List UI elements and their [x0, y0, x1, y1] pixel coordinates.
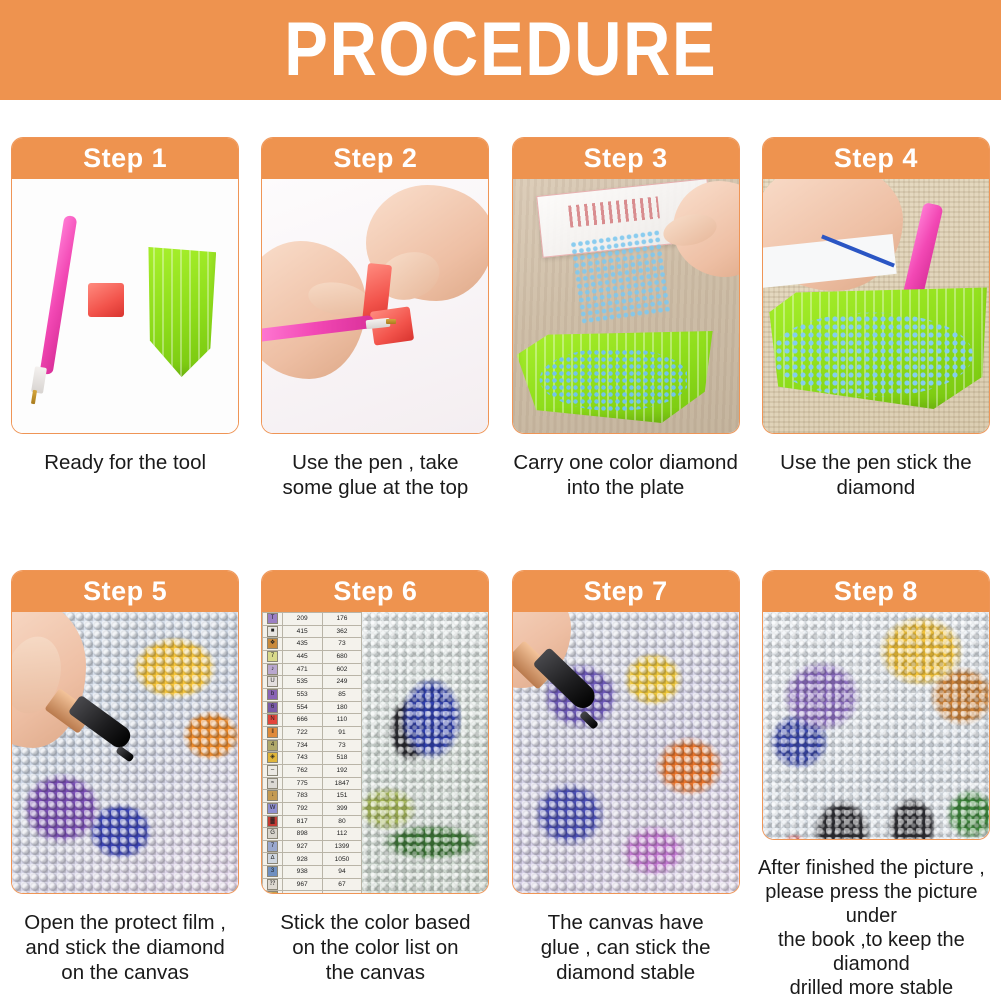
color-chart-row: ≈7751847 — [263, 777, 362, 790]
color-swatch: ❖ — [267, 638, 278, 649]
partly-finished-canvas — [362, 612, 488, 893]
color-swatch: 6 — [267, 702, 278, 713]
color-chart-row: W792399 — [263, 802, 362, 815]
color-count-cell: 1847 — [322, 777, 362, 790]
color-chart-row: T209176 — [263, 613, 362, 626]
color-count-cell: 73 — [322, 638, 362, 651]
color-list-table: T209176■415362❖435737445680♪471602U53524… — [262, 612, 364, 893]
step-3-header: Step 3 — [513, 138, 739, 179]
color-swatch: G — [267, 828, 278, 839]
step-8-caption: After finished the picture , please pres… — [737, 856, 1001, 1000]
color-count-cell: 73 — [322, 739, 362, 752]
color-symbol-cell: ♪ — [263, 663, 282, 676]
color-count-cell: 109 — [322, 891, 362, 893]
color-swatch: T — [267, 613, 278, 624]
color-code-cell: 415 — [282, 625, 322, 638]
color-chart-row: ▓81780 — [263, 815, 362, 828]
color-swatch: U — [267, 676, 278, 687]
color-swatch: ■ — [267, 626, 278, 637]
color-code-cell: 554 — [282, 701, 322, 714]
step-5-caption: Open the protect film , and stick the di… — [0, 910, 250, 985]
step-1-header: Step 1 — [12, 138, 238, 179]
color-count-cell: 399 — [322, 802, 362, 815]
color-count-cell: 680 — [322, 650, 362, 663]
step-card-8[interactable]: Step 8 After finished the picture , plea… — [751, 570, 1001, 1000]
color-chart-row: U535249 — [263, 676, 362, 689]
color-swatch: ◈ — [267, 752, 278, 763]
step-5-header: Step 5 — [12, 571, 238, 612]
color-code-cell: 775 — [282, 777, 322, 790]
color-chart-row: ⁇96767 — [263, 878, 362, 891]
color-chart-row: G898112 — [263, 828, 362, 841]
color-count-cell: 151 — [322, 790, 362, 803]
color-symbol-cell: 7 — [263, 650, 282, 663]
color-swatch: 3 — [267, 866, 278, 877]
color-chart-row: ‖72291 — [263, 726, 362, 739]
glue-square-icon — [88, 283, 124, 317]
color-swatch: ↓ — [267, 790, 278, 801]
color-symbol-cell: 4 — [263, 739, 282, 752]
color-chart-row: 7445680 — [263, 650, 362, 663]
color-chart-row: ↓783151 — [263, 790, 362, 803]
step-7-photo — [513, 612, 739, 893]
color-swatch: ≈ — [267, 778, 278, 789]
color-code-cell: 743 — [282, 752, 322, 765]
step-1-caption: Ready for the tool — [0, 450, 250, 475]
finished-canvas-mosaic — [763, 612, 989, 840]
color-code-cell: 975 — [282, 891, 322, 893]
color-symbol-cell: ❖ — [263, 638, 282, 651]
step-2-photo — [262, 179, 488, 433]
color-swatch: 4 — [267, 740, 278, 751]
color-chart-row: N666110 — [263, 714, 362, 727]
color-chart-row: 79271399 — [263, 840, 362, 853]
page-title: PROCEDURE — [284, 10, 717, 90]
color-symbol-cell: ‖ — [263, 726, 282, 739]
color-symbol-cell: ≈ — [263, 777, 282, 790]
bead-grid — [763, 612, 989, 840]
color-count-cell: 602 — [322, 663, 362, 676]
color-symbol-cell: 3 — [263, 866, 282, 879]
color-chart-row: 473473 — [263, 739, 362, 752]
color-count-cell: 518 — [322, 752, 362, 765]
color-symbol-cell: ■ — [263, 625, 282, 638]
page-banner: PROCEDURE — [0, 0, 1001, 100]
step-card-1[interactable]: Step 1 Ready for the tool — [0, 137, 250, 527]
color-count-cell: 67 — [322, 878, 362, 891]
color-symbol-cell: T — [263, 613, 282, 626]
color-chart-row: ♪471602 — [263, 663, 362, 676]
color-count-cell: 94 — [322, 866, 362, 879]
color-symbol-cell: – — [263, 764, 282, 777]
color-count-cell: 85 — [322, 688, 362, 701]
color-symbol-cell: ▓ — [263, 815, 282, 828]
step-8-photo — [763, 612, 989, 840]
color-swatch: N — [267, 714, 278, 725]
color-symbol-cell: ↓ — [263, 790, 282, 803]
color-symbol-cell: N — [263, 714, 282, 727]
step-2-card-frame: Step 2 — [261, 137, 489, 434]
color-swatch: ⁇ — [267, 879, 278, 890]
color-swatch: ▓ — [267, 816, 278, 827]
step-card-6[interactable]: Step 6 T209176■415362❖435737445680♪47160… — [250, 570, 500, 1000]
color-count-cell: 192 — [322, 764, 362, 777]
color-chart-row: C975109 — [263, 891, 362, 893]
color-chart-table: T209176■415362❖435737445680♪471602U53524… — [262, 612, 362, 893]
steps-row-bottom: Step 5 Open the protect film , and stick… — [0, 570, 1001, 1000]
step-6-card-frame: Step 6 T209176■415362❖435737445680♪47160… — [261, 570, 489, 894]
color-symbol-cell: ∆ — [263, 853, 282, 866]
color-count-cell: 110 — [322, 714, 362, 727]
canvas-mosaic — [362, 612, 488, 893]
color-symbol-cell: 7 — [263, 840, 282, 853]
color-chart-row: –762192 — [263, 764, 362, 777]
color-chart-row: ◈743518 — [263, 752, 362, 765]
color-chart-row: ■415362 — [263, 625, 362, 638]
step-6-caption: Stick the color based on the color list … — [250, 910, 500, 985]
color-count-cell: 112 — [322, 828, 362, 841]
step-8-header: Step 8 — [763, 571, 989, 612]
step-1-card-frame: Step 1 — [11, 137, 239, 434]
step-3-card-frame: Step 3 — [512, 137, 740, 434]
color-swatch: 7 — [267, 651, 278, 662]
color-symbol-cell: U — [263, 676, 282, 689]
step-5-card-frame: Step 5 — [11, 570, 239, 894]
color-swatch: W — [267, 803, 278, 814]
step-card-2[interactable]: Step 2 Use the — [250, 137, 500, 527]
step-card-3[interactable]: Step 3 Carry — [501, 137, 751, 527]
step-3-caption: Carry one color diamond into the plate — [501, 450, 751, 500]
color-swatch: – — [267, 765, 278, 776]
step-3-photo — [513, 179, 739, 433]
color-code-cell: 666 — [282, 714, 322, 727]
step-6-header: Step 6 — [262, 571, 488, 612]
step-4-header: Step 4 — [763, 138, 989, 179]
step-4-card-frame: Step 4 — [762, 137, 990, 434]
step-8-card-frame: Step 8 — [762, 570, 990, 840]
bead-grid — [362, 612, 488, 893]
color-code-cell: 938 — [282, 866, 322, 879]
color-count-cell: 1050 — [322, 853, 362, 866]
color-swatch: b — [267, 689, 278, 700]
step-card-5[interactable]: Step 5 Open the protect film , and stick… — [0, 570, 250, 1000]
color-chart-row: 393894 — [263, 866, 362, 879]
step-5-photo — [12, 612, 238, 893]
diamond-stream — [569, 229, 670, 325]
color-count-cell: 1399 — [322, 840, 362, 853]
color-count-cell: 249 — [322, 676, 362, 689]
color-code-cell: 209 — [282, 613, 322, 626]
step-4-photo — [763, 179, 989, 433]
color-count-cell: 180 — [322, 701, 362, 714]
color-code-cell: 928 — [282, 853, 322, 866]
color-code-cell: 435 — [282, 638, 322, 651]
step-card-7[interactable]: Step 7 The canvas have glue , can stick … — [501, 570, 751, 1000]
color-swatch: ‖ — [267, 727, 278, 738]
color-chart-row: ❖43573 — [263, 638, 362, 651]
color-symbol-cell: b — [263, 688, 282, 701]
pen-metal-tip-icon — [386, 319, 396, 324]
color-symbol-cell: 6 — [263, 701, 282, 714]
color-code-cell: 762 — [282, 764, 322, 777]
color-code-cell: 471 — [282, 663, 322, 676]
step-7-card-frame: Step 7 — [512, 570, 740, 894]
color-symbol-cell: ⁇ — [263, 878, 282, 891]
step-2-header: Step 2 — [262, 138, 488, 179]
steps-row-top: Step 1 Ready for the tool — [0, 137, 1001, 527]
color-chart-row: ∆9281050 — [263, 853, 362, 866]
color-code-cell: 722 — [282, 726, 322, 739]
color-chart-body: T209176■415362❖435737445680♪471602U53524… — [263, 613, 362, 894]
step-6-photo: T209176■415362❖435737445680♪471602U53524… — [262, 612, 488, 893]
color-code-cell: 967 — [282, 878, 322, 891]
color-count-cell: 362 — [322, 625, 362, 638]
color-count-cell: 91 — [322, 726, 362, 739]
color-code-cell: 783 — [282, 790, 322, 803]
steps-grid: Step 1 Ready for the tool — [0, 100, 1001, 1001]
color-code-cell: 445 — [282, 650, 322, 663]
step-7-caption: The canvas have glue , can stick the dia… — [501, 910, 751, 985]
color-swatch: 7 — [267, 841, 278, 852]
color-code-cell: 734 — [282, 739, 322, 752]
color-count-cell: 176 — [322, 613, 362, 626]
color-swatch: ♪ — [267, 664, 278, 675]
color-symbol-cell: W — [263, 802, 282, 815]
step-4-caption: Use the pen stick the diamond — [751, 450, 1001, 500]
color-symbol-cell: ◈ — [263, 752, 282, 765]
color-symbol-cell: G — [263, 828, 282, 841]
color-code-cell: 927 — [282, 840, 322, 853]
color-code-cell: 553 — [282, 688, 322, 701]
color-code-cell: 898 — [282, 828, 322, 841]
color-count-cell: 80 — [322, 815, 362, 828]
step-1-photo — [12, 179, 238, 433]
step-7-header: Step 7 — [513, 571, 739, 612]
color-code-cell: 535 — [282, 676, 322, 689]
color-code-cell: 792 — [282, 802, 322, 815]
color-chart-row: 6554180 — [263, 701, 362, 714]
color-swatch: C — [267, 891, 278, 893]
color-swatch: ∆ — [267, 853, 278, 864]
color-symbol-cell: C — [263, 891, 282, 893]
color-chart-row: b55385 — [263, 688, 362, 701]
color-code-cell: 817 — [282, 815, 322, 828]
step-card-4[interactable]: Step 4 — [751, 137, 1001, 527]
step-2-caption: Use the pen , take some glue at the top — [250, 450, 500, 500]
